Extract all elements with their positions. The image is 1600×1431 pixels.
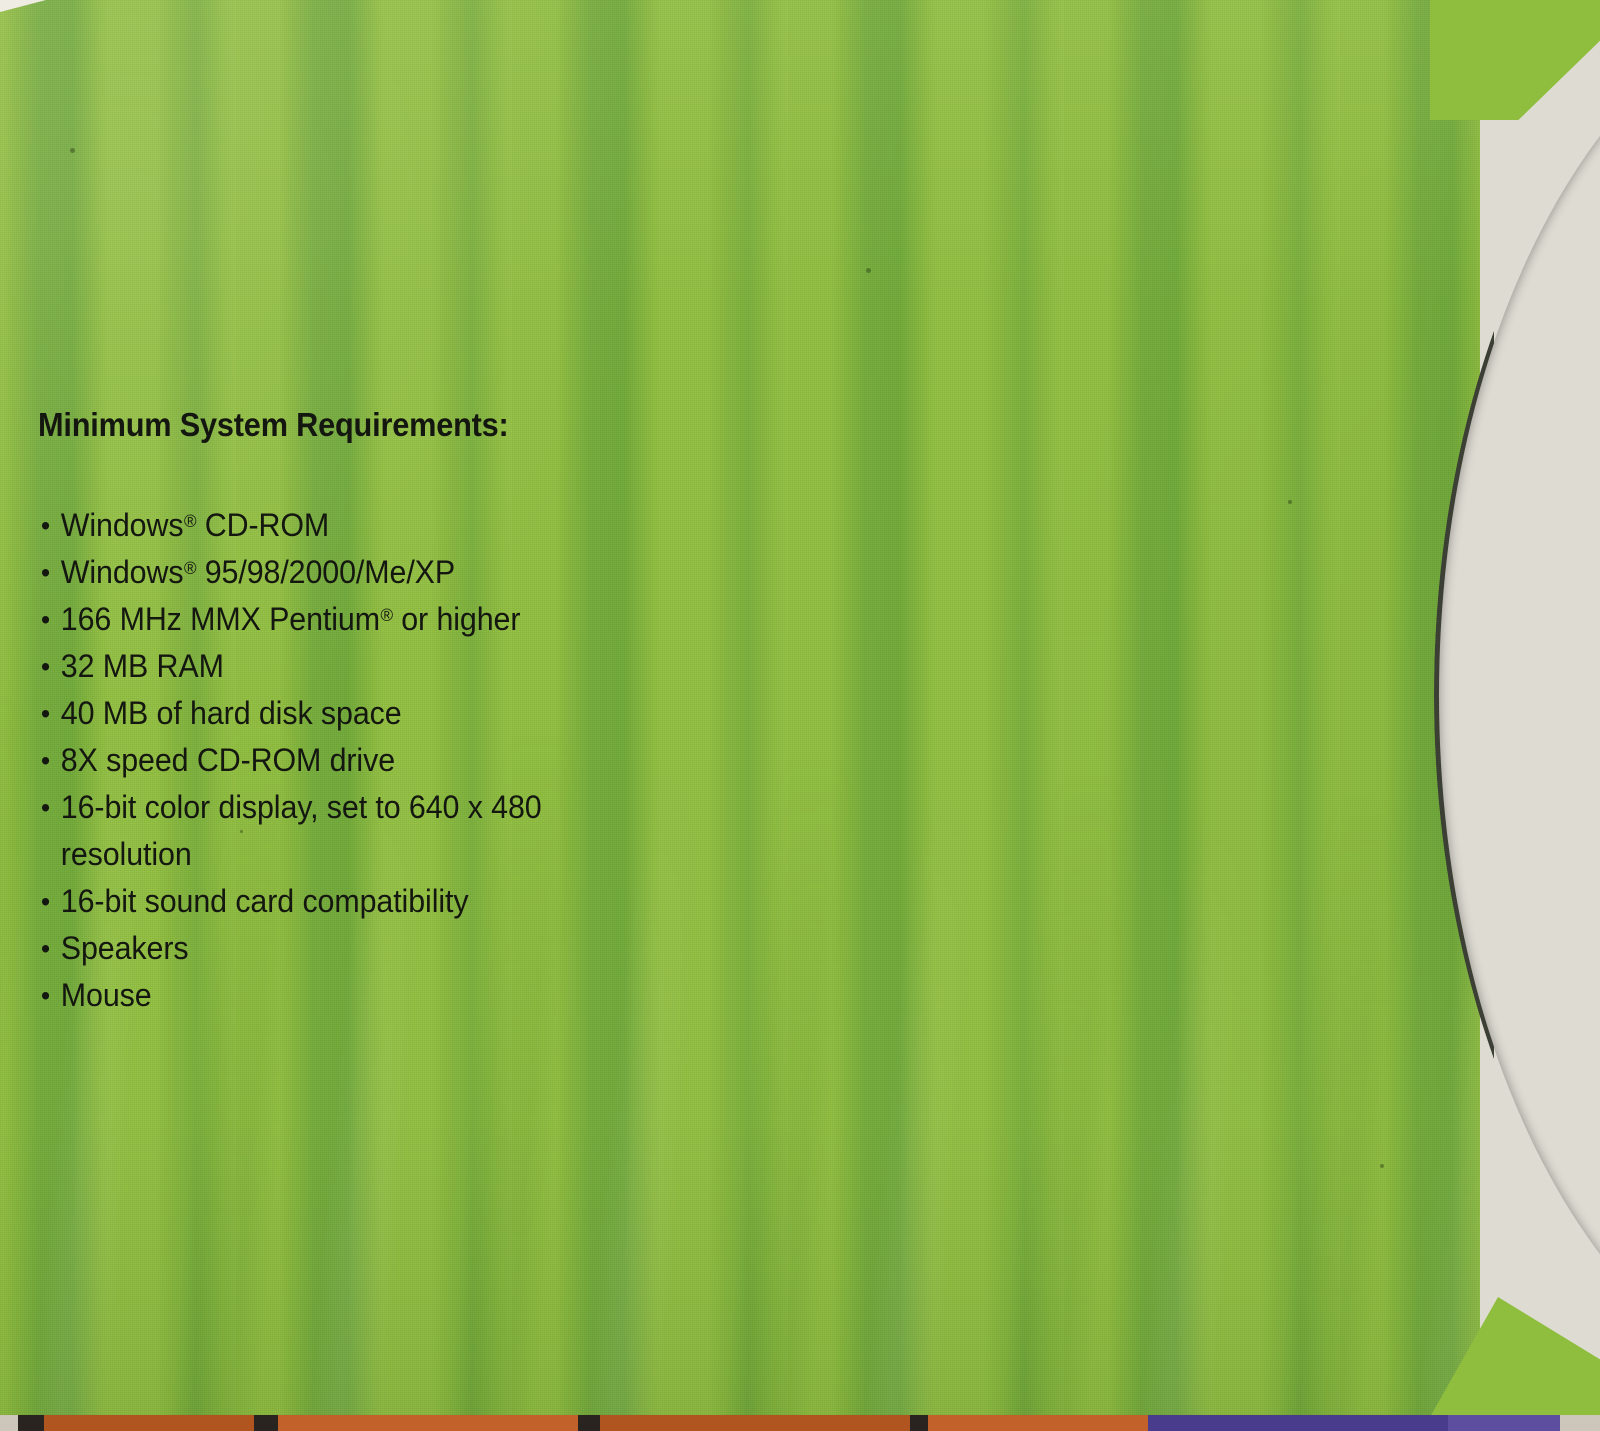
requirement-item-label: 166 MHz MMX Pentium® or higher bbox=[61, 601, 521, 637]
cd-sleeve-back-panel: Minimum System Requirements: •Windows® C… bbox=[0, 0, 1600, 1431]
bottom-strip-segment bbox=[0, 1415, 18, 1431]
bottom-strip-segment bbox=[1560, 1415, 1600, 1431]
requirement-item: •Speakers bbox=[38, 925, 646, 972]
registered-trademark-icon: ® bbox=[184, 558, 196, 578]
bottom-strip-segment bbox=[254, 1415, 278, 1431]
requirement-item-label: Speakers bbox=[61, 930, 189, 966]
registered-trademark-icon: ® bbox=[380, 605, 392, 625]
bottom-strip-segment bbox=[1448, 1415, 1560, 1431]
bullet-icon: • bbox=[41, 643, 50, 690]
bullet-icon: • bbox=[41, 925, 50, 972]
requirement-item: •Windows® 95/98/2000/Me/XP bbox=[38, 549, 646, 596]
bullet-icon: • bbox=[41, 549, 50, 596]
bottom-strip-segment bbox=[600, 1415, 910, 1431]
requirement-item-label: 16-bit sound card compatibility bbox=[61, 883, 469, 919]
bottom-edge-color-strip bbox=[0, 1415, 1600, 1431]
requirements-list: •Windows® CD-ROM•Windows® 95/98/2000/Me/… bbox=[38, 502, 678, 1019]
bullet-icon: • bbox=[41, 878, 50, 925]
print-speck bbox=[866, 268, 871, 273]
requirement-item: •16-bit color display, set to 640 x 480 … bbox=[38, 784, 646, 878]
requirement-item-label: 8X speed CD-ROM drive bbox=[61, 742, 395, 778]
bottom-strip-segment bbox=[278, 1415, 578, 1431]
bullet-icon: • bbox=[41, 690, 50, 737]
bullet-icon: • bbox=[41, 784, 50, 831]
bottom-strip-segment bbox=[1148, 1415, 1448, 1431]
bottom-strip-segment bbox=[44, 1415, 254, 1431]
requirement-item-label: 40 MB of hard disk space bbox=[61, 695, 402, 731]
print-speck bbox=[1288, 500, 1292, 504]
bullet-icon: • bbox=[41, 737, 50, 784]
print-speck bbox=[70, 148, 75, 153]
requirement-item: •Mouse bbox=[38, 972, 646, 1019]
requirement-item: •166 MHz MMX Pentium® or higher bbox=[38, 596, 646, 643]
requirements-content: Minimum System Requirements: •Windows® C… bbox=[38, 406, 678, 1019]
requirement-item-label: Windows® CD-ROM bbox=[61, 507, 329, 543]
requirement-item: •Windows® CD-ROM bbox=[38, 502, 646, 549]
registered-trademark-icon: ® bbox=[184, 511, 196, 531]
print-speck bbox=[1380, 1164, 1384, 1168]
requirement-item: •16-bit sound card compatibility bbox=[38, 878, 646, 925]
bottom-strip-segment bbox=[910, 1415, 928, 1431]
requirement-item-label: 32 MB RAM bbox=[61, 648, 224, 684]
bottom-strip-segment bbox=[18, 1415, 44, 1431]
requirement-item: •32 MB RAM bbox=[38, 643, 646, 690]
page-title: Minimum System Requirements: bbox=[38, 406, 633, 444]
requirement-item-label: 16-bit color display, set to 640 x 480 r… bbox=[61, 789, 542, 872]
requirement-item-label: Windows® 95/98/2000/Me/XP bbox=[61, 554, 455, 590]
bottom-strip-segment bbox=[578, 1415, 600, 1431]
requirement-item: •40 MB of hard disk space bbox=[38, 690, 646, 737]
bullet-icon: • bbox=[41, 972, 50, 1019]
requirement-item: •8X speed CD-ROM drive bbox=[38, 737, 646, 784]
bottom-strip-segment bbox=[928, 1415, 1148, 1431]
bullet-icon: • bbox=[41, 502, 50, 549]
bullet-icon: • bbox=[41, 596, 50, 643]
requirement-item-label: Mouse bbox=[61, 977, 152, 1013]
